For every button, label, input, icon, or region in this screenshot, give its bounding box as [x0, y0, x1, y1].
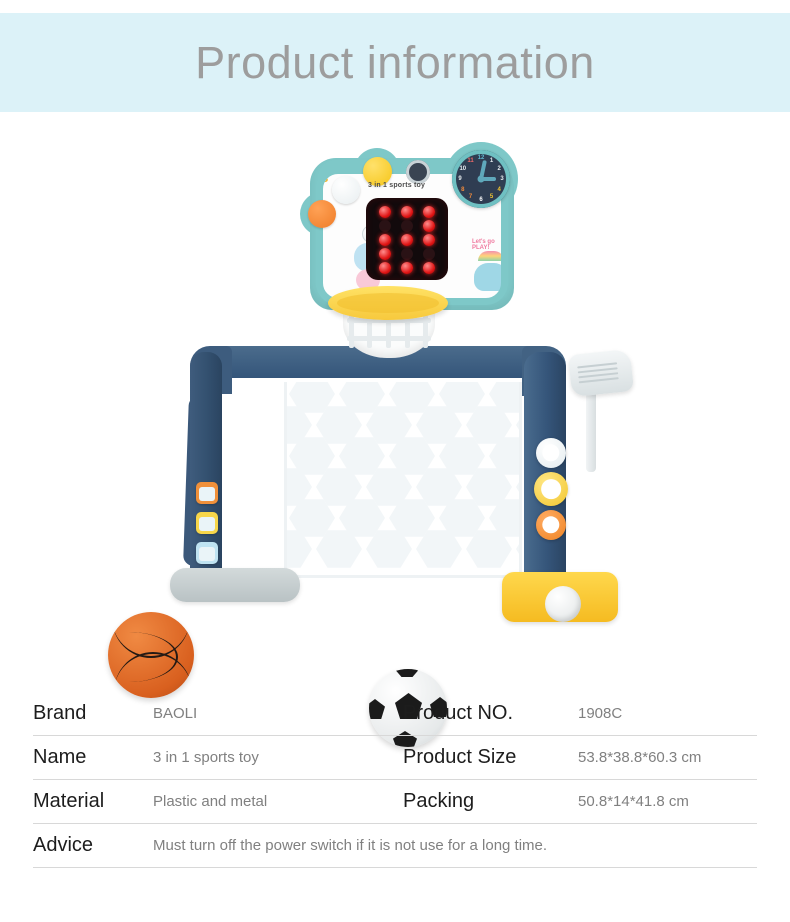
led-dot: [423, 262, 435, 274]
white-snowflake-knob-icon[interactable]: [332, 176, 360, 204]
mesh-cell: [284, 529, 312, 569]
basketball-mode-sticker-icon[interactable]: [196, 482, 218, 504]
rainbow-sticker-icon: [478, 251, 502, 261]
led-dot: [401, 206, 413, 218]
spec-value-packing: 50.8*14*41.8 cm: [578, 793, 689, 810]
speaker-dial-icon[interactable]: [406, 160, 430, 184]
spec-label-brand: Brand: [33, 702, 86, 725]
clock-numeral: 3: [500, 176, 503, 182]
backboard-brand-text: 3 in 1 sports toy: [368, 182, 425, 189]
clock-numeral: 9: [458, 176, 461, 182]
golf-club-head: [568, 349, 634, 397]
spec-label-product-size: Product Size: [403, 746, 516, 769]
spec-label-name: Name: [33, 746, 86, 769]
goal-left-base: [170, 568, 300, 602]
spec-value-advice: Must turn off the power switch if it is …: [153, 837, 547, 854]
specification-table: Brand BAOLI Product NO. 1908C Name 3 in …: [33, 692, 757, 868]
spec-value-product-size: 53.8*38.8*60.3 cm: [578, 749, 701, 766]
soccer-mode-sticker-icon[interactable]: [196, 512, 218, 534]
mesh-cell: [416, 529, 462, 569]
golf-mode-sticker-icon[interactable]: [196, 542, 218, 564]
orange-snowflake-knob-icon[interactable]: [308, 200, 336, 228]
spec-value-product-no: 1908C: [578, 705, 622, 722]
white-gear-icon[interactable]: [536, 438, 566, 468]
clock-numeral: 1: [490, 158, 493, 164]
lets-go-play-text: Let's go PLAY!: [472, 239, 502, 251]
basketball-hoop-ring: [328, 286, 448, 320]
clock-center-pin: [478, 176, 485, 183]
mesh-cell: [366, 529, 412, 569]
mesh-cell: [516, 529, 522, 569]
led-dot: [379, 248, 391, 260]
led-dot: [379, 234, 391, 246]
led-dot: [423, 220, 435, 232]
spec-label-advice: Advice: [33, 834, 93, 857]
led-dot: [423, 206, 435, 218]
mesh-cell: [466, 529, 512, 569]
led-dot: [379, 262, 391, 274]
spec-value-material: Plastic and metal: [153, 793, 267, 810]
table-row: Name 3 in 1 sports toy Product Size 53.8…: [33, 736, 757, 780]
product-information-page: Product information 8 Let's go PLAY!: [0, 0, 790, 922]
led-score-display: [366, 198, 448, 280]
mesh-cell: [316, 529, 362, 569]
spec-value-name: 3 in 1 sports toy: [153, 749, 259, 766]
clock-numeral: 2: [498, 166, 501, 172]
golf-ball: [545, 586, 581, 622]
led-dot: [379, 206, 391, 218]
basketball: [108, 612, 194, 698]
table-row-advice: Advice Must turn off the power switch if…: [33, 824, 757, 868]
clock-numeral: 7: [469, 194, 472, 200]
mesh-row: [284, 529, 522, 569]
led-dot: [423, 234, 435, 246]
orange-gear-icon[interactable]: [536, 510, 566, 540]
clock-numeral: 4: [498, 187, 501, 193]
led-dot: [401, 234, 413, 246]
soccer-goal: [176, 340, 616, 646]
table-row: Brand BAOLI Product NO. 1908C: [33, 692, 757, 736]
led-dot: [401, 248, 413, 260]
led-dot: [401, 262, 413, 274]
spec-label-product-no: Product NO.: [403, 702, 513, 725]
product-image: 8 Let's go PLAY! 3 in 1 sports toy 12123…: [0, 112, 790, 690]
clock-numeral: 10: [459, 166, 466, 172]
spec-value-brand: BAOLI: [153, 705, 197, 722]
spec-label-material: Material: [33, 790, 104, 813]
led-dot: [401, 220, 413, 232]
clock-numeral: 8: [461, 187, 464, 193]
led-dot: [379, 220, 391, 232]
page-title: Product information: [195, 37, 595, 89]
page-header-band: Product information: [0, 13, 790, 112]
clock-numeral: 11: [467, 158, 473, 164]
elephant-sticker-icon: [474, 263, 502, 291]
led-dot: [423, 248, 435, 260]
spec-label-packing: Packing: [403, 790, 474, 813]
clock-numeral: 5: [490, 194, 493, 200]
led-dot-grid: [379, 206, 435, 272]
goal-net-mesh: [284, 382, 522, 578]
clock-numeral: 6: [479, 197, 482, 203]
table-row: Material Plastic and metal Packing 50.8*…: [33, 780, 757, 824]
analog-clock-icon[interactable]: 121234567891011: [452, 150, 510, 208]
yellow-gear-icon[interactable]: [534, 472, 568, 506]
